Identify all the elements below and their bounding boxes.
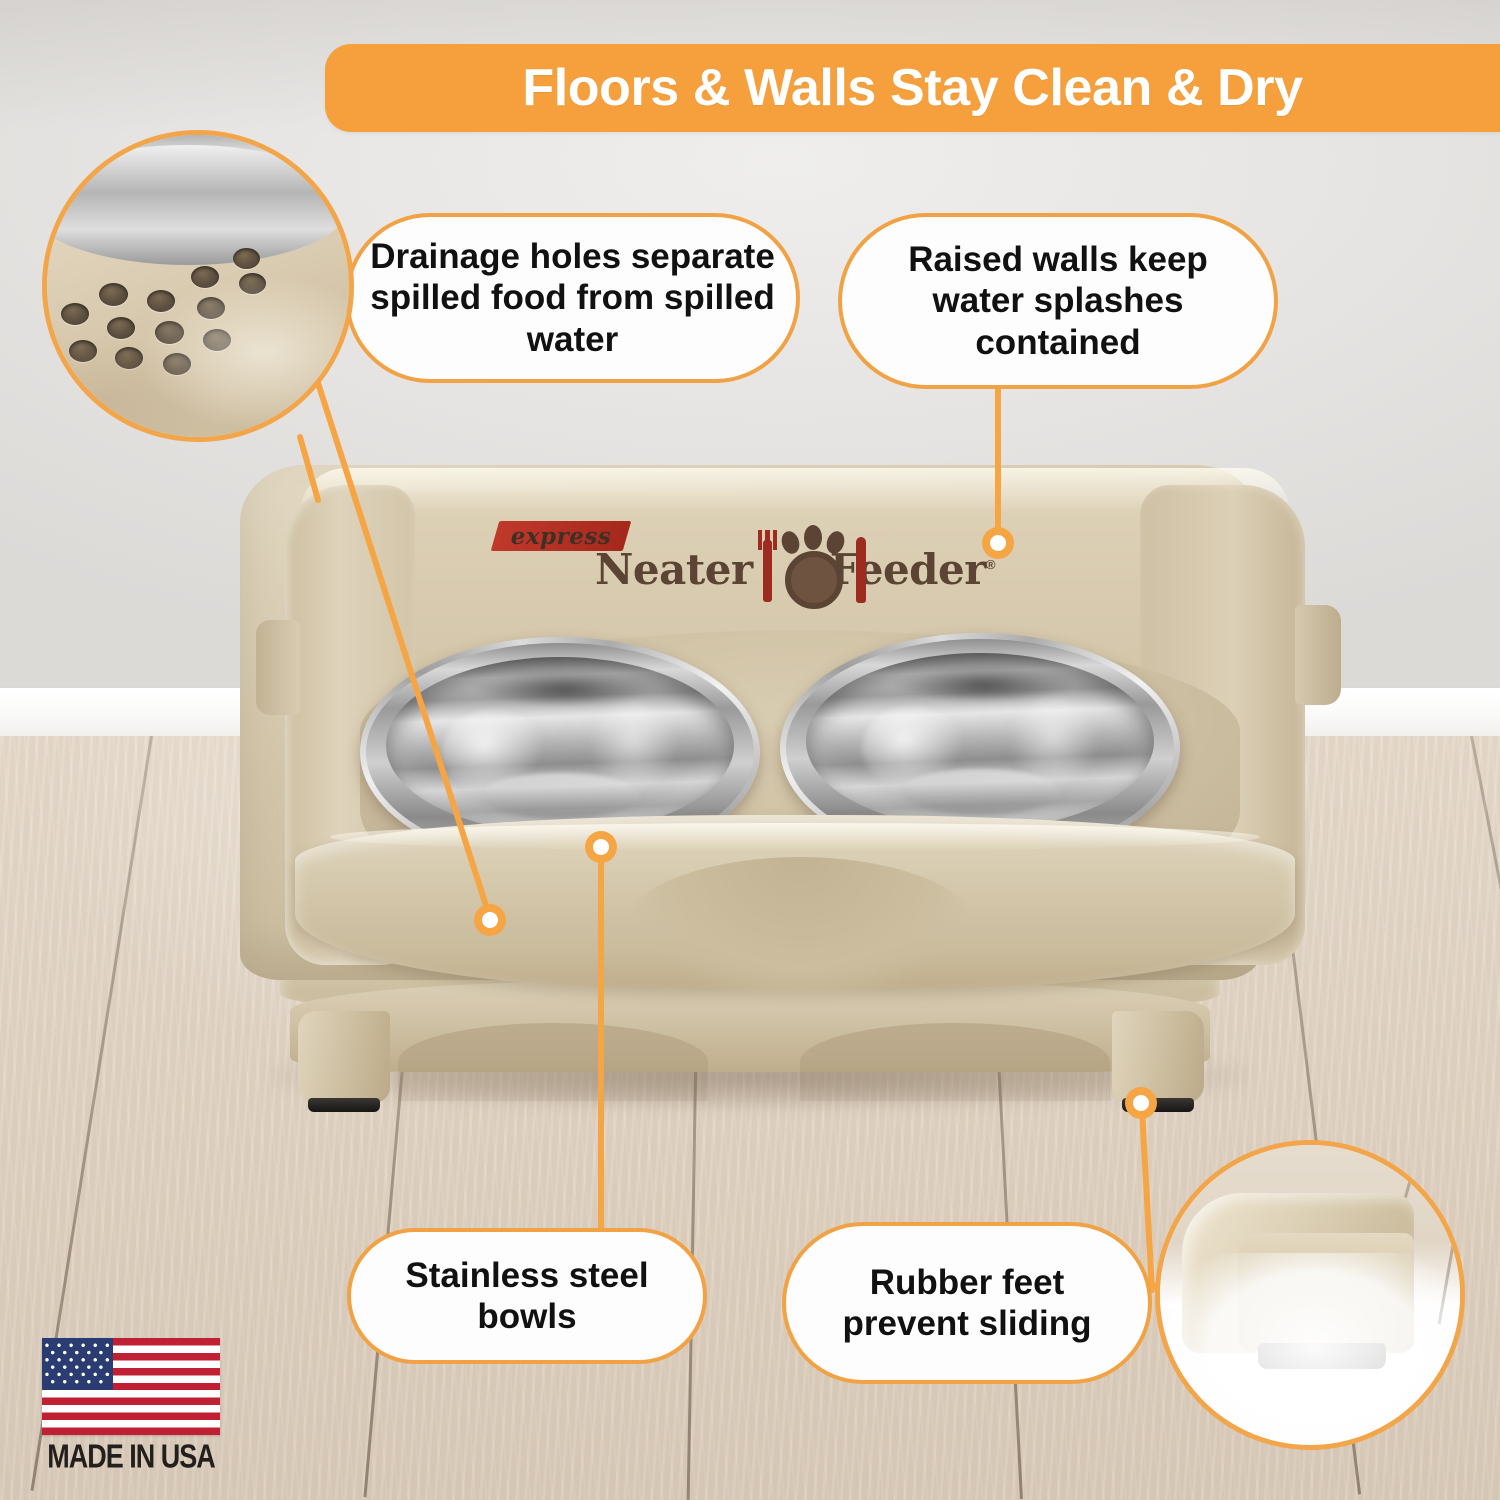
base-arch-left (398, 1023, 708, 1101)
made-in-usa-badge: MADE IN USA (42, 1338, 228, 1468)
bowl-interior (386, 657, 734, 833)
callout-rubber-feet[interactable]: Rubber feet prevent sliding (782, 1222, 1152, 1384)
logo-word-neater: Neater (595, 549, 753, 591)
callout-rubber-feet-text: Rubber feet prevent sliding (802, 1262, 1132, 1345)
logo-word-feeder: Feeder® (830, 549, 995, 591)
callout-raised-walls[interactable]: Raised walls keep water splashes contain… (838, 213, 1278, 389)
flag-canton (42, 1338, 113, 1390)
rubber-foot-left (308, 1098, 380, 1112)
rubber-foot-right (1122, 1098, 1194, 1112)
bowl-bottom (900, 769, 1060, 815)
tray-rim-center-dip (620, 857, 980, 1007)
rubber-foot-closeup-inset (1155, 1140, 1465, 1450)
base-leg-left (298, 1011, 390, 1103)
base-leg-right (1112, 1011, 1204, 1103)
feeder-tray: Neater Feeder® express (240, 465, 1260, 980)
tray-side-tab-right (1295, 605, 1341, 705)
bowl-shadow (890, 664, 1078, 699)
express-label: express (495, 521, 627, 551)
made-in-usa-label: MADE IN USA (42, 1438, 220, 1476)
drainage-holes-closeup-inset (42, 130, 354, 442)
paw-toe-icon (804, 525, 822, 550)
bowl-shadow (470, 668, 658, 703)
express-badge: express (495, 521, 627, 551)
callout-stainless-bowls[interactable]: Stainless steel bowls (347, 1228, 707, 1364)
paw-pad-icon (785, 551, 843, 609)
fork-icon (763, 540, 772, 602)
callout-drainage-holes-text: Drainage holes separate spilled food fro… (367, 236, 778, 360)
callout-raised-walls-text: Raised walls keep water splashes contain… (858, 239, 1258, 363)
tray-rim-highlight (330, 823, 1260, 851)
header-banner: Floors & Walls Stay Clean & Dry (325, 44, 1500, 132)
base-arch-right (800, 1023, 1110, 1101)
paw-toe-icon (778, 529, 801, 556)
neater-feeder-product: Neater Feeder® express (195, 465, 1305, 1125)
callout-drainage-holes[interactable]: Drainage holes separate spilled food fro… (345, 213, 800, 383)
closeup-white-glow (1155, 1253, 1465, 1450)
callout-stainless-bowls-text: Stainless steel bowls (367, 1255, 687, 1338)
flag-stars (42, 1338, 113, 1390)
header-banner-text: Floors & Walls Stay Clean & Dry (522, 58, 1302, 118)
infographic-canvas: Neater Feeder® express (0, 0, 1500, 1500)
bowl-bottom (480, 773, 640, 819)
knife-icon (856, 537, 866, 603)
registered-mark: ® (986, 557, 995, 572)
logo-feeder-text: Feeder (830, 545, 986, 594)
tray-side-tab-left (256, 620, 300, 715)
product-logo: Neater Feeder® (595, 525, 995, 615)
closeup-surface-sheen (47, 135, 349, 437)
paw-print-icon (759, 527, 824, 613)
us-flag-icon (42, 1338, 220, 1435)
bowl-interior (806, 653, 1154, 829)
